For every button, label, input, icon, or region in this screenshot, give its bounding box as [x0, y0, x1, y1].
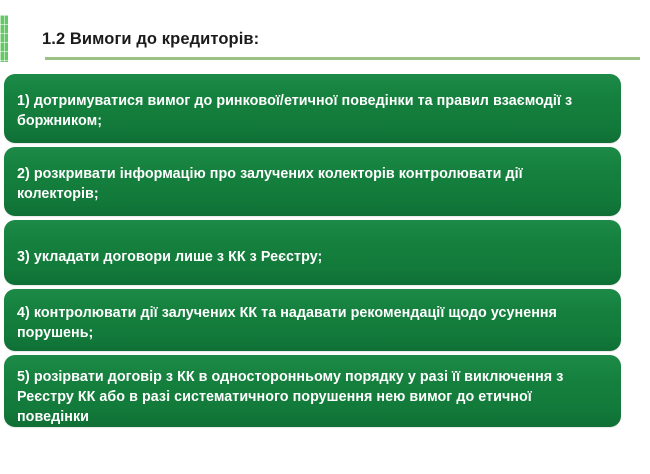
list-item-text: 3) укладати договори лише з КК з Реєстру…: [17, 230, 607, 267]
green-mesh-strip-icon: [0, 15, 8, 62]
list-item-text: 2) розкривати інформацію про залучених к…: [17, 157, 607, 204]
title-row: 1.2 Вимоги до кредиторів:: [42, 27, 642, 53]
title-underline-divider: [45, 57, 640, 60]
slide-canvas: 1.2 Вимоги до кредиторів: 1) дотримувати…: [0, 0, 650, 474]
list-item: 5) розірвати договір з КК в одностороннь…: [4, 355, 621, 427]
page-title: 1.2 Вимоги до кредиторів:: [42, 27, 642, 51]
list-item-text: 1) дотримуватися вимог до ринкової/етичн…: [17, 84, 607, 131]
requirements-list: 1) дотримуватися вимог до ринкової/етичн…: [4, 74, 621, 431]
list-item: 2) розкривати інформацію про залучених к…: [4, 147, 621, 216]
list-item-text: 4) контролювати дії залучених КК та нада…: [17, 299, 607, 343]
list-item-text: 5) розірвати договір з КК в одностороннь…: [17, 365, 607, 427]
list-item: 1) дотримуватися вимог до ринкової/етичн…: [4, 74, 621, 143]
list-item: 4) контролювати дії залучених КК та нада…: [4, 289, 621, 351]
list-item: 3) укладати договори лише з КК з Реєстру…: [4, 220, 621, 285]
